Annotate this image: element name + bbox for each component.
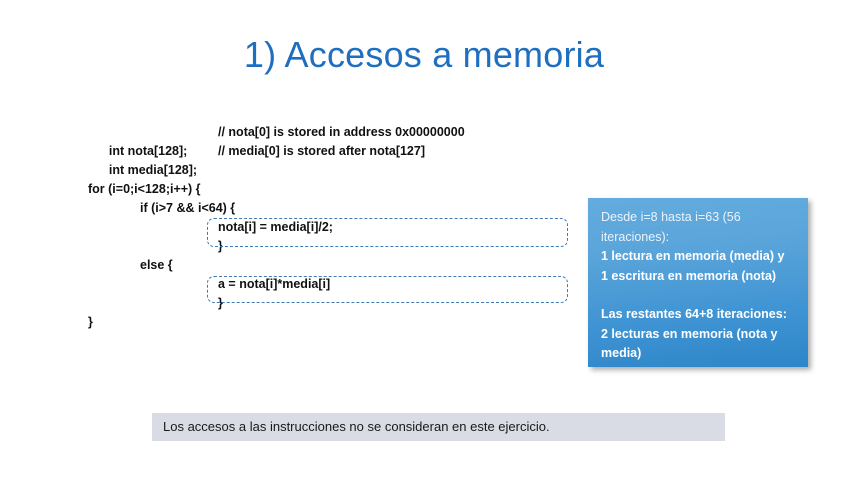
callout-line-5: Las restantes 64+8 iteraciones:	[601, 307, 787, 321]
code-line-for: for (i=0;i<128;i++) {	[88, 180, 333, 199]
code-line-spacer	[88, 161, 333, 180]
code-line-declaration-1: int nota[128]; // nota[0] is stored in a…	[88, 123, 333, 142]
callout-line-1: Desde i=8 hasta i=63 (56	[601, 210, 741, 224]
code-line-declaration-2: int media[128]; // media[0] is stored af…	[88, 142, 333, 161]
callout-line-7: media)	[601, 346, 641, 360]
code-line-if: if (i>7 && i<64) {	[88, 199, 333, 218]
memory-access-callout: Desde i=8 hasta i=63 (56 iteraciones): 1…	[588, 198, 808, 367]
callout-line-4: 1 escritura en memoria (nota)	[601, 269, 776, 283]
code-line-for-close: }	[88, 313, 333, 332]
page-title: 1) Accesos a memoria	[0, 34, 848, 76]
declaration-1-comment: // nota[0] is stored in address 0x000000…	[218, 123, 465, 142]
callout-line-2: iteraciones):	[601, 230, 669, 244]
highlight-box-if-body	[207, 218, 568, 247]
footer-note-banner: Los accesos a las instrucciones no se co…	[152, 413, 725, 441]
declaration-2-comment: // media[0] is stored after nota[127]	[218, 142, 425, 161]
callout-line-6: 2 lecturas en memoria (nota y	[601, 327, 777, 341]
callout-paragraph-gap	[601, 286, 796, 305]
slide-canvas: 1) Accesos a memoria int nota[128]; // n…	[0, 0, 848, 477]
code-line-else: else {	[88, 256, 333, 275]
highlight-box-else-body	[207, 276, 568, 303]
callout-line-3: 1 lectura en memoria (media) y	[601, 249, 784, 263]
